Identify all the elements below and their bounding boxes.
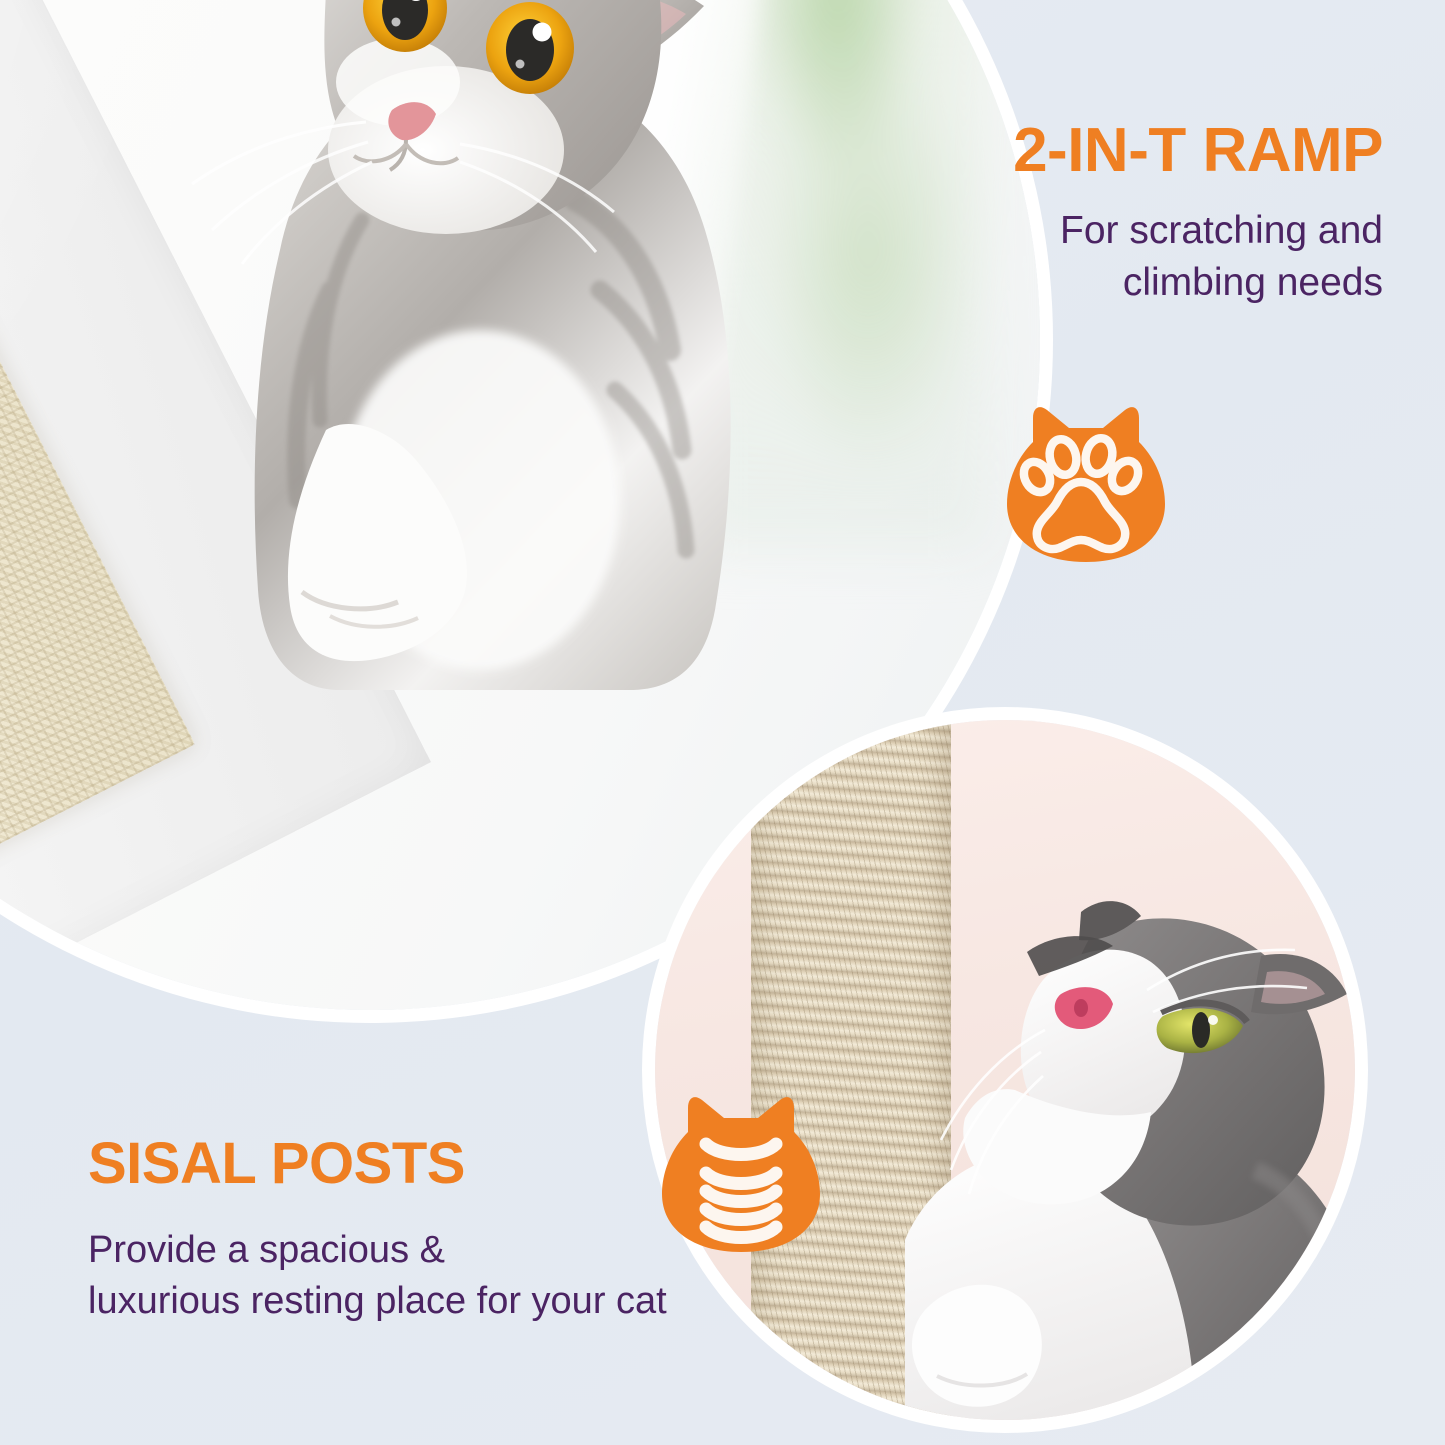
ramp-subline: For scratching and climbing needs: [1013, 205, 1383, 310]
grey-tabby-cat: [130, 0, 770, 690]
sisal-photo-circle: [655, 720, 1355, 1420]
ramp-subline-line1: For scratching and: [1060, 209, 1383, 252]
sisal-subline-line1: Provide a spacious &: [88, 1229, 445, 1271]
sisal-photo-scene: [655, 720, 1355, 1420]
cat-head-paw-print-icon: [1003, 398, 1169, 566]
product-feature-graphic: 2-IN-T RAMP For scratching and climbing …: [0, 0, 1445, 1445]
ramp-text-block: 2-IN-T RAMP For scratching and climbing …: [1013, 118, 1383, 310]
ramp-headline: 2-IN-T RAMP: [1013, 118, 1383, 183]
sisal-subline: Provide a spacious & luxurious resting p…: [88, 1225, 667, 1327]
badge-cat-head-shape: [662, 1097, 820, 1252]
sisal-subline-line2: luxurious resting place for your cat: [88, 1280, 667, 1322]
fluffy-grey-white-cat: [895, 840, 1355, 1420]
cat-eye-right: [486, 2, 574, 94]
ramp-subline-line2: climbing needs: [1123, 261, 1383, 304]
cat-head-sisal-rope-icon: [658, 1088, 824, 1256]
sisal-text-block: SISAL POSTS Provide a spacious & luxurio…: [88, 1134, 667, 1327]
sisal-headline: SISAL POSTS: [88, 1134, 667, 1195]
